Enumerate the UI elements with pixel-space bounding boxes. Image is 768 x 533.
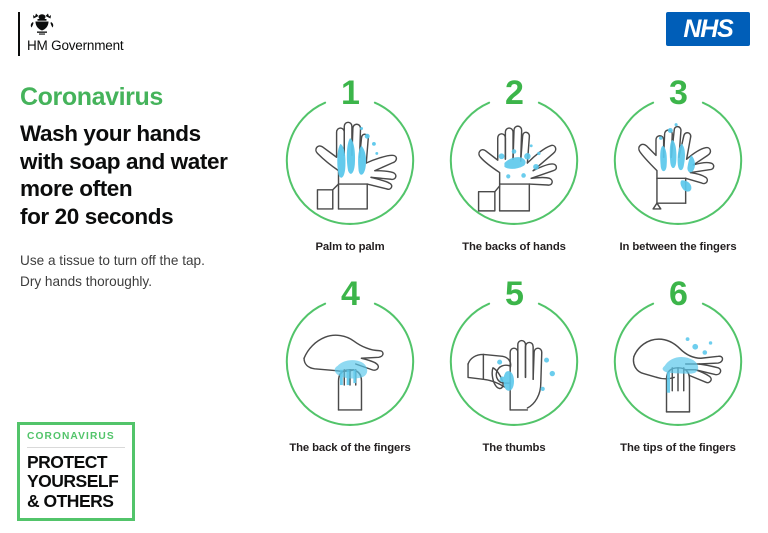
step-1: 1 [268,78,432,253]
hands-fingertips-icon [611,297,745,431]
subtext-line-2: Dry hands thoroughly. [20,271,270,292]
step-3-graphic: 3 [603,78,753,240]
step-6-caption: The tips of the fingers [620,442,736,454]
headline-line-1: Wash your hands [20,120,270,147]
hands-backs-icon [447,96,581,230]
nhs-logo-label: NHS [683,17,732,42]
headline-line-4: for 20 seconds [20,203,270,230]
step-5-caption: The thumbs [482,442,545,454]
badge-line-3: & OTHERS [27,492,125,511]
step-1-caption: Palm to palm [315,241,384,253]
badge-eyebrow: CORONAVIRUS [27,431,125,447]
step-6-graphic: 6 [603,279,753,441]
hm-government-logo: HM Government [18,12,123,56]
step-2-graphic: 2 [439,78,589,240]
headline-line-2: with soap and water [20,148,270,175]
hands-back-of-fingers-icon [283,297,417,431]
hands-thumbs-icon [447,297,581,431]
step-6: 6 [596,279,760,454]
step-4-caption: The back of the fingers [289,442,410,454]
handwashing-poster: HM Government NHS Coronavirus Wash your … [0,0,768,533]
left-text-column: Coronavirus Wash your hands with soap an… [20,84,270,292]
handwashing-steps: 1 [268,78,760,454]
badge-slogan: PROTECT YOURSELF & OTHERS [27,453,125,511]
hm-government-logo-body: HM Government [27,12,123,53]
step-2: 2 [432,78,596,253]
hands-palm-to-palm-icon [283,96,417,230]
badge-divider [27,447,125,448]
step-5-graphic: 5 [439,279,589,441]
subtext: Use a tissue to turn off the tap. Dry ha… [20,250,270,292]
nhs-logo: NHS [666,12,750,46]
step-1-graphic: 1 [275,78,425,240]
headline-line-3: more often [20,175,270,202]
hm-government-label: HM Government [27,38,123,53]
steps-row-top: 1 [268,78,760,253]
protect-yourself-badge: CORONAVIRUS PROTECT YOURSELF & OTHERS [17,422,135,521]
subtext-line-1: Use a tissue to turn off the tap. [20,250,270,271]
badge-line-2: YOURSELF [27,472,125,491]
steps-row-bottom: 4 [268,279,760,454]
step-3: 3 [596,78,760,253]
step-5: 5 [432,279,596,454]
royal-crest-icon [27,12,57,36]
badge-line-1: PROTECT [27,453,125,472]
step-4-graphic: 4 [275,279,425,441]
page-title: Wash your hands with soap and water more… [20,120,270,230]
eyebrow-heading: Coronavirus [20,84,270,110]
step-3-caption: In between the fingers [619,241,736,253]
step-4: 4 [268,279,432,454]
logo-divider-bar [18,12,20,56]
step-2-caption: The backs of hands [462,241,566,253]
hands-interlaced-fingers-icon [611,96,745,230]
